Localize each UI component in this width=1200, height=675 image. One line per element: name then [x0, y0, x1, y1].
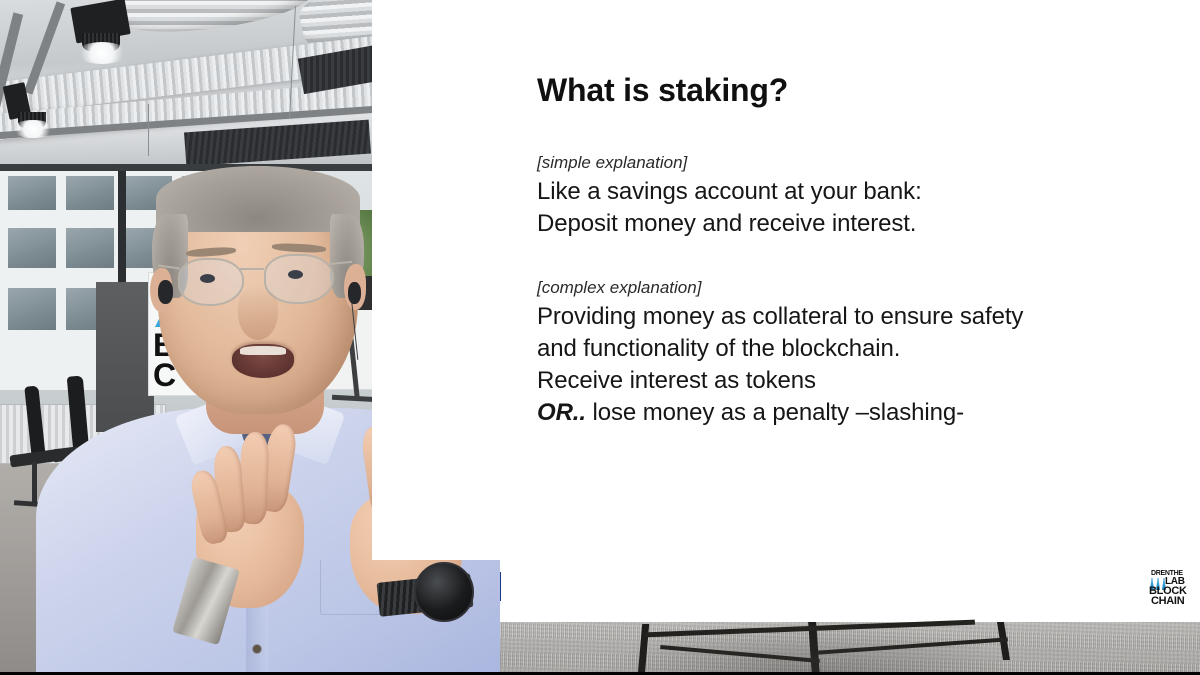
slide-block-complex-line-1: Providing money as collateral to ensure …	[537, 301, 1023, 333]
slide-block-simple: [simple explanation] Like a savings acco…	[537, 150, 922, 240]
slide-title: What is staking?	[537, 72, 788, 109]
logo-line-chain: CHAIN	[1151, 597, 1197, 605]
shirt-button-2	[253, 645, 261, 653]
slide-block-complex: [complex explanation] Providing money as…	[537, 275, 1023, 429]
speaker-eye-right	[288, 270, 303, 279]
building-window	[8, 176, 56, 210]
screen-root: What is staking? [simple explanation] Li…	[0, 0, 1200, 675]
building-window	[66, 228, 114, 268]
building-window	[8, 288, 56, 330]
slide-block-complex-line-4-rest: lose money as a penalty –slashing-	[586, 399, 964, 426]
logo-line-block: BLOCK	[1149, 587, 1195, 595]
track-light-glow	[76, 42, 128, 64]
building-window	[66, 176, 114, 210]
slide-block-simple-line-1: Like a savings account at your bank:	[537, 176, 922, 208]
slide-block-complex-line-4: OR.. lose money as a penalty –slashing-	[537, 397, 1023, 429]
eyeglasses-bridge	[240, 268, 264, 270]
slide-emphasis-or: OR..	[537, 399, 586, 426]
slide-block-simple-tag: [simple explanation]	[537, 150, 922, 176]
speaker-teeth	[240, 346, 286, 355]
earbud-icon-right	[348, 282, 361, 304]
speaker-nose	[238, 286, 278, 340]
slide-block-complex-line-2: and functionality of the blockchain.	[537, 333, 1023, 365]
earbud-icon	[158, 280, 173, 304]
office-partition	[96, 282, 154, 432]
slide-block-simple-line-2: Deposit money and receive interest.	[537, 208, 922, 240]
drenthe-lab-blockchain-logo: DRENTHE LAB BLOCK CHAIN	[1148, 570, 1194, 608]
slide-block-complex-line-3: Receive interest as tokens	[537, 365, 1023, 397]
track-light-glow-2	[12, 120, 54, 138]
ceiling-cable-2	[148, 104, 149, 156]
building-window	[8, 228, 56, 268]
speaker-eye-left	[200, 274, 215, 283]
slide-block-complex-tag: [complex explanation]	[537, 275, 1023, 301]
wristwatch-face	[414, 562, 474, 622]
